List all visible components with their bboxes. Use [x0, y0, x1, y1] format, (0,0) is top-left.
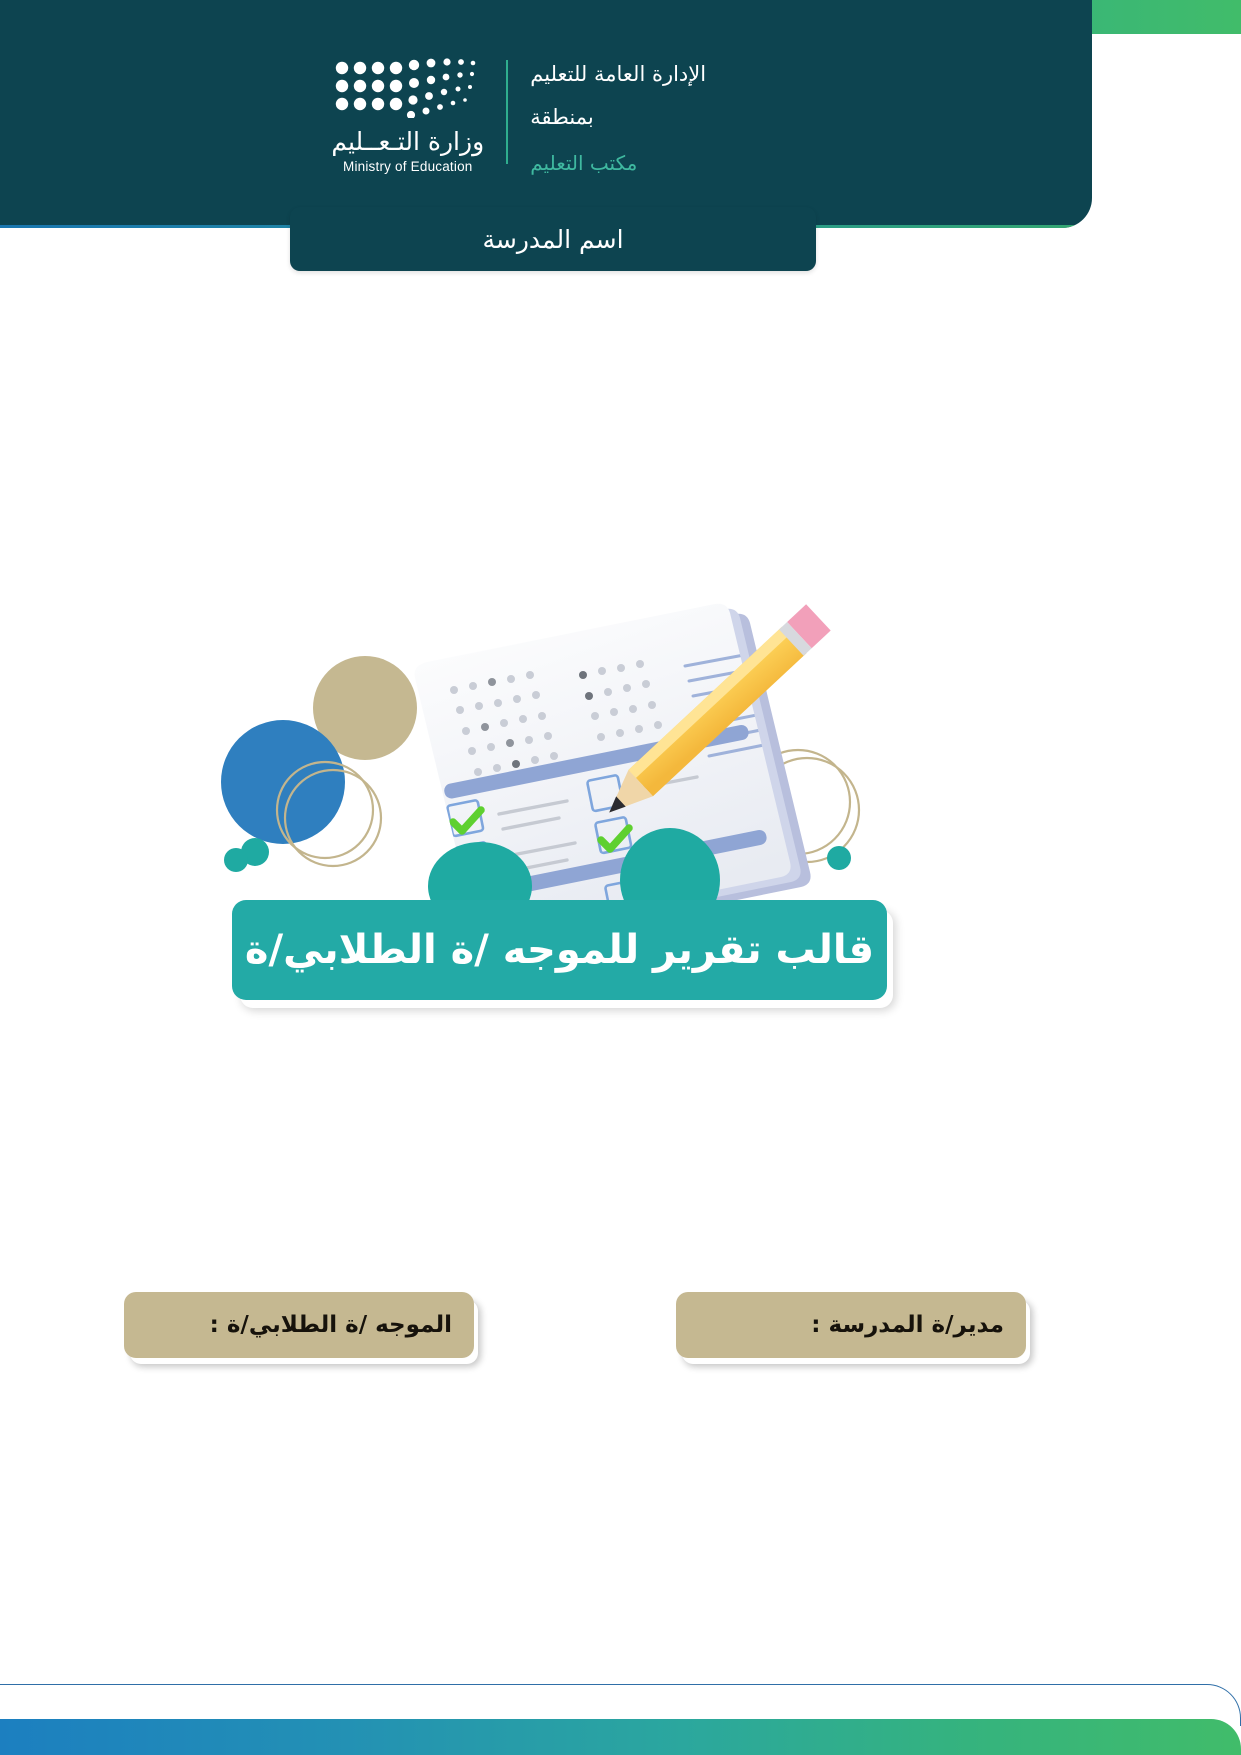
- signature-box-student-counselor[interactable]: الموجه /ة الطلابي/ة :: [124, 1292, 474, 1358]
- teal-dot: [224, 848, 248, 872]
- document-cover-page: الإدارة العامة للتعليم بمنطقة مكتب التعل…: [0, 0, 1241, 1755]
- report-title-text: قالب تقرير للموجه /ة الطلابي/ة: [245, 927, 874, 973]
- blue-circle: [221, 720, 345, 844]
- ministry-logo-marks: وزارة التـعــليم Ministry of Education: [332, 58, 484, 174]
- header-content: الإدارة العامة للتعليم بمنطقة مكتب التعل…: [0, 58, 1092, 177]
- signature-label-student-counselor: الموجه /ة الطلابي/ة :: [210, 1312, 452, 1338]
- signature-box-principal[interactable]: مدير/ة المدرسة :: [676, 1292, 1026, 1358]
- school-name-label: اسم المدرسة: [482, 225, 623, 254]
- vertical-divider-icon: [506, 60, 509, 164]
- signature-label-principal: مدير/ة المدرسة :: [811, 1312, 1004, 1338]
- admin-office-line: مكتب التعليم: [530, 149, 637, 177]
- footer-gradient-bar: [0, 1719, 1241, 1755]
- admin-region-line: بمنطقة: [530, 103, 593, 132]
- dotted-palm-emblem-icon: [332, 58, 484, 123]
- report-title-banner: قالب تقرير للموجه /ة الطلابي/ة: [232, 900, 887, 1000]
- header-panel: الإدارة العامة للتعليم بمنطقة مكتب التعل…: [0, 0, 1092, 228]
- teal-dot: [827, 846, 851, 870]
- education-administration-block: الإدارة العامة للتعليم بمنطقة مكتب التعل…: [530, 58, 760, 177]
- ministry-name-english: Ministry of Education: [343, 159, 473, 174]
- checklist-clipboard-pencil-illustration: [215, 500, 905, 920]
- ministry-logo: وزارة التـعــليم Ministry of Education: [332, 58, 484, 174]
- ministry-name-arabic: وزارة التـعــليم: [331, 127, 484, 156]
- school-name-field[interactable]: اسم المدرسة: [290, 207, 816, 271]
- admin-general-line: الإدارة العامة للتعليم: [530, 60, 706, 89]
